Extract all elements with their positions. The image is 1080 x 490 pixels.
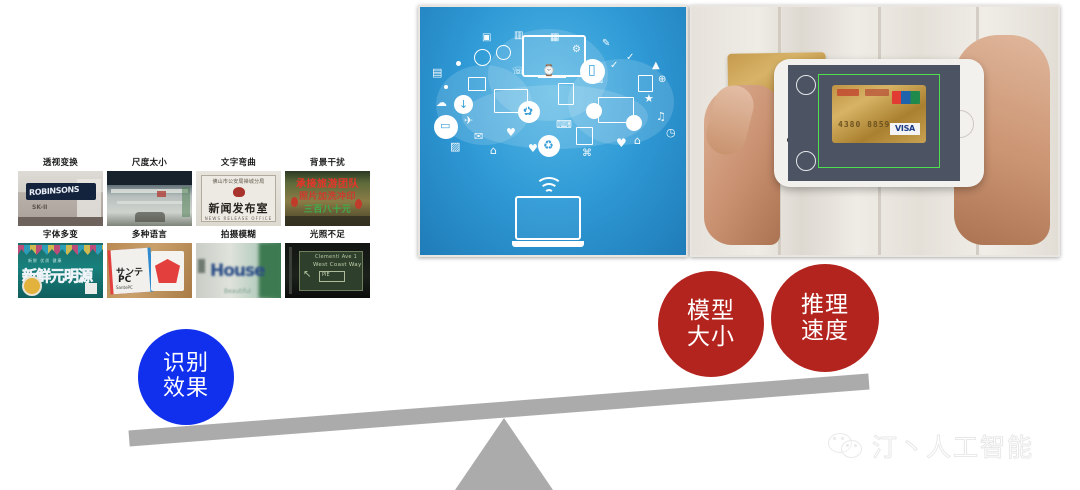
- robinsons-storefront-thumbnail: ROBINSONS SK-II: [18, 171, 103, 226]
- gallery-item-label: 多种语言: [107, 230, 192, 241]
- house-sign-text: House: [210, 261, 265, 281]
- gallery-item-label: 拍摄模糊: [196, 230, 281, 241]
- bubble-line-1: 模型: [687, 298, 735, 324]
- gallery-item-background-noise[interactable]: 背景干扰 承接旅游团队 照片加洗冲印 三百八十元: [285, 158, 370, 226]
- technology-icon-cluster: ↓ ▭ ▯ ✿ ♻ ▤ ▣ ▥ ▦ ✎ ✓ ★ ♫ ⊕ ◷: [430, 31, 676, 159]
- gallery-item-label: 透视变换: [18, 158, 103, 169]
- unionpay-logo: [892, 91, 920, 104]
- watermark-text: 汀丶人工智能: [872, 428, 1034, 464]
- gallery-item-low-light[interactable]: 光照不足 Clementi Ave 1 West Coast Way ↖ PIE: [285, 230, 370, 298]
- shop-sign-line-3: 三百八十元: [287, 202, 368, 215]
- gallery-item-perspective[interactable]: 透视变换 ROBINSONS SK-II: [18, 158, 103, 226]
- news-office-plaque-thumbnail: 佛山市公安局禅城分局 新闻发布室 NEWS RELEASE OFFICE: [196, 171, 281, 226]
- blurry-house-sign-thumbnail: House Beautiful: [196, 243, 281, 298]
- slide-canvas: 透视变换 ROBINSONS SK-II 尺度太小: [0, 0, 1080, 490]
- japanese-package-thumbnail: サンテ PC SantePC: [107, 243, 192, 298]
- gallery-item-curved-text[interactable]: 文字弯曲 佛山市公安局禅城分局 新闻发布室 NEWS RELEASE OFFIC…: [196, 158, 281, 226]
- shop-sign-line-1: 承接旅游团队: [287, 175, 368, 190]
- gallery-item-multi-language[interactable]: 多种语言 サンテ PC SantePC: [107, 230, 192, 298]
- emblem-icon: [233, 187, 245, 197]
- road-sign-line-2: West Coast Way: [313, 262, 362, 268]
- gallery-item-label: 背景干扰: [285, 158, 370, 169]
- gallery-item-blurry[interactable]: 拍摄模糊 House Beautiful: [196, 230, 281, 298]
- gallery-item-label: 文字弯曲: [196, 158, 281, 169]
- gallery-item-label: 字体多变: [18, 230, 103, 241]
- gallery-item-label: 光照不足: [285, 230, 370, 241]
- shop-sign-line-2: 照片加洗冲印: [287, 189, 368, 202]
- plaque-english-text: NEWS RELEASE OFFICE: [196, 216, 281, 221]
- bubble-line-1: 识别: [163, 352, 209, 377]
- phone-card-scan-photo: 4380 8859 VISA: [690, 5, 1060, 257]
- bubble-line-2: 速度: [801, 318, 849, 344]
- flash-button[interactable]: [796, 75, 816, 95]
- japanese-text-line-3: SantePC: [116, 285, 133, 290]
- gallery-row: 字体多变 新鲜 优质 健康 新鲜元明源 多种语言 サンテ PC SantePC: [18, 230, 370, 298]
- wechat-icon: [828, 431, 866, 461]
- bubble-line-1: 推理: [801, 292, 849, 318]
- robinsons-sub-text: SK-II: [32, 204, 47, 211]
- card-number-text: 4380 8859: [838, 120, 890, 129]
- recognition-quality-bubble[interactable]: 识别 效果: [138, 329, 234, 425]
- cloud-computing-photo: ↓ ▭ ▯ ✿ ♻ ▤ ▣ ▥ ▦ ✎ ✓ ★ ♫ ⊕ ◷: [418, 5, 688, 257]
- house-sign-subtext: Beautiful: [224, 288, 251, 295]
- mall-atrium-thumbnail: [107, 171, 192, 226]
- inference-speed-bubble[interactable]: 推理 速度: [771, 264, 879, 372]
- laptop-icon: [512, 196, 584, 247]
- road-sign-route-label: PIE: [322, 272, 330, 278]
- scanned-bank-card: 4380 8859 VISA: [832, 85, 926, 143]
- dark-road-sign-thumbnail: Clementi Ave 1 West Coast Way ↖ PIE: [285, 243, 370, 298]
- seesaw-fulcrum: [455, 418, 553, 490]
- wechat-watermark: 汀丶人工智能: [828, 428, 1034, 464]
- gallery-item-small-scale[interactable]: 尺度太小: [107, 158, 192, 226]
- expand-button[interactable]: [796, 151, 816, 171]
- road-sign-line-1: Clementi Ave 1: [315, 254, 357, 260]
- air-china-logo: [837, 89, 859, 96]
- bank-of-china-logo: [865, 89, 889, 96]
- visa-logo: VISA: [890, 123, 920, 135]
- red-shop-sign-thumbnail: 承接旅游团队 照片加洗冲印 三百八十元: [285, 171, 370, 226]
- bubble-line-2: 效果: [163, 377, 209, 402]
- poster-small-text: 新鲜 优质 健康: [28, 258, 63, 264]
- gallery-row: 透视变换 ROBINSONS SK-II 尺度太小: [18, 158, 370, 226]
- arrow-icon: ↖: [303, 269, 311, 280]
- bubble-line-2: 大小: [687, 324, 735, 350]
- model-size-bubble[interactable]: 模型 大小: [658, 271, 764, 377]
- teal-poster-thumbnail: 新鲜 优质 健康 新鲜元明源: [18, 243, 103, 298]
- plaque-main-text: 新闻发布室: [196, 200, 281, 216]
- camera-viewfinder: 4380 8859 VISA: [788, 65, 960, 181]
- japanese-text-line-2: PC: [118, 275, 131, 285]
- sample-image-gallery: 透视变换 ROBINSONS SK-II 尺度太小: [18, 158, 370, 302]
- plaque-small-text: 佛山市公安局禅城分局: [196, 178, 281, 185]
- gallery-item-label: 尺度太小: [107, 158, 192, 169]
- gallery-item-varied-fonts[interactable]: 字体多变 新鲜 优质 健康 新鲜元明源: [18, 230, 103, 298]
